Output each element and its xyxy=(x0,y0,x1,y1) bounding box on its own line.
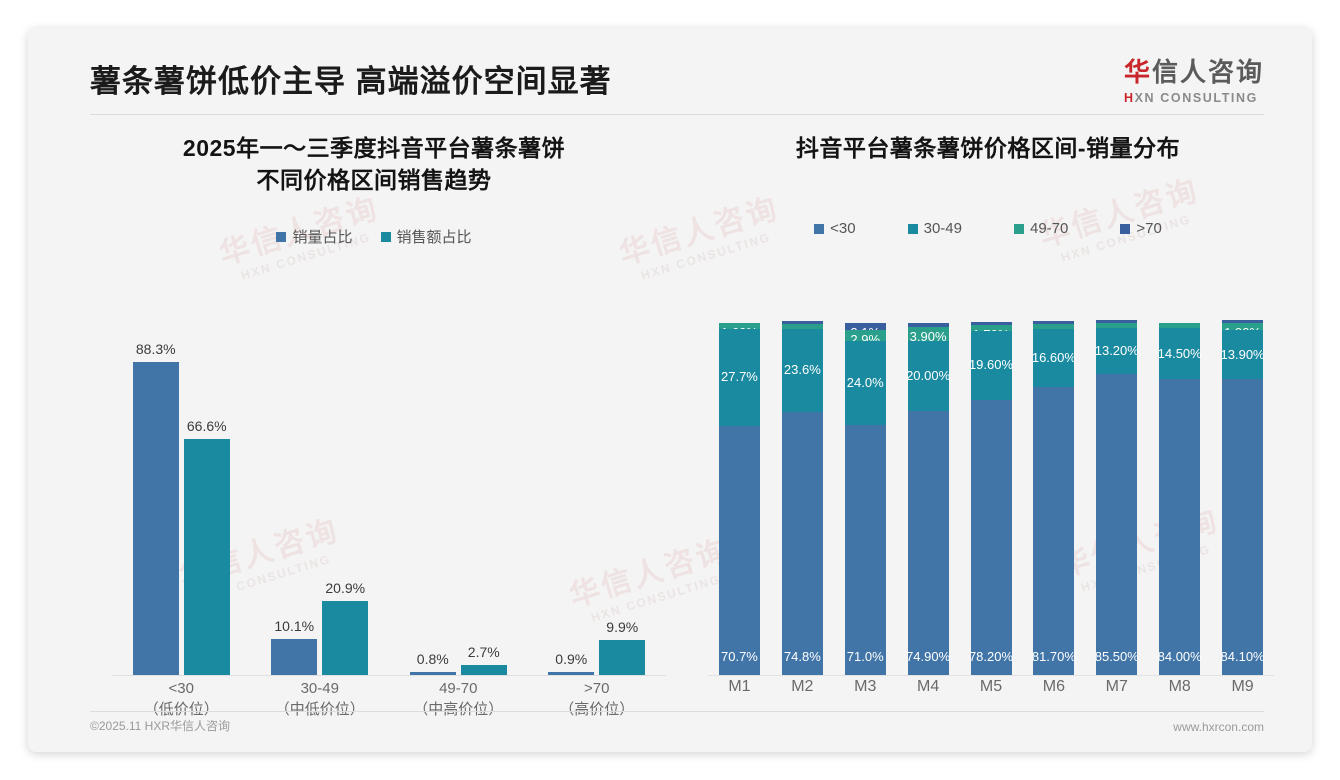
legend-swatch-icon xyxy=(1014,224,1024,234)
legend-label: 49-70 xyxy=(1030,220,1068,237)
legend-item-sales-volume[interactable]: 销量占比 xyxy=(276,226,352,247)
legend-label: 销售额占比 xyxy=(397,226,472,247)
legend-item-sales-amount[interactable]: 销售额占比 xyxy=(381,226,472,247)
x-axis-tick-label: M9 xyxy=(1211,678,1274,696)
stacked-bar-column: 0.0%1.60%27.7%70.7% xyxy=(708,316,771,675)
stacked-bar: 0.10%1.20%13.20%85.50% xyxy=(1096,316,1137,675)
stacked-bar-column: 0.2%1.40%23.6%74.8% xyxy=(771,316,834,675)
stacked-bar-column: 0.30%1.40%16.60%81.70% xyxy=(1022,316,1085,675)
bar-value-label: 9.9% xyxy=(606,619,638,635)
x-axis-tick-label: M6 xyxy=(1022,678,1085,696)
left-chart-legend: 销量占比 销售额占比 xyxy=(74,226,674,247)
x-axis-tick-label: M4 xyxy=(897,678,960,696)
bar-value-label: 66.6% xyxy=(187,418,227,434)
stacked-bar: 1.20%3.90%20.00%74.90% xyxy=(908,316,949,675)
x-axis-tick-label: M7 xyxy=(1085,678,1148,696)
segment-value-label: 74.90% xyxy=(906,649,950,664)
segment-value-label: 71.0% xyxy=(847,649,884,664)
segment-value-label: 27.7% xyxy=(721,369,758,384)
right-chart-title: 抖音平台薯条薯饼价格区间-销量分布 xyxy=(688,132,1288,164)
stacked-bar-column: 1.20%3.90%20.00%74.90% xyxy=(897,316,960,675)
segment-value-label: 24.0% xyxy=(847,375,884,390)
bar-column: 88.3% xyxy=(133,316,179,675)
bar-value-label: 0.9% xyxy=(555,651,587,667)
slide-canvas: 华信人咨询 HXN CONSULTING 华信人咨询 HXN CONSULTIN… xyxy=(28,28,1312,752)
stack-segment-<30[interactable]: 78.20% xyxy=(971,400,1012,675)
segment-value-label: 78.20% xyxy=(969,649,1013,664)
legend-label: 销量占比 xyxy=(292,226,352,247)
legend-label: >70 xyxy=(1136,220,1161,237)
legend-item-30-49[interactable]: 30-49 xyxy=(908,220,962,237)
bar-销售额占比[interactable] xyxy=(461,665,507,675)
stack-segment-<30[interactable]: 81.70% xyxy=(1033,387,1074,675)
grouped-bar-chart: 88.3%66.6%10.1%20.9%0.8%2.7%0.9%9.9% <30… xyxy=(82,316,674,676)
bar-column: 9.9% xyxy=(599,316,645,675)
stack-segment-30-49[interactable]: 23.6% xyxy=(782,329,823,412)
brand-logo-en-rest: XN CONSULTING xyxy=(1135,91,1258,105)
bar-column: 0.8% xyxy=(410,316,456,675)
stack-segment-30-49[interactable]: 27.7% xyxy=(719,329,760,427)
x-axis-tick-label: M5 xyxy=(960,678,1023,696)
right-chart-title-line1: 抖音平台薯条薯饼价格区间-销量分布 xyxy=(688,132,1288,164)
segment-value-label: 84.00% xyxy=(1158,649,1202,664)
footer-divider xyxy=(90,711,1264,712)
chart-panel-left: 2025年一～三季度抖音平台薯条薯饼 不同价格区间销售趋势 销量占比 销售额占比… xyxy=(74,132,674,712)
x-axis-tick-label: 49-70 xyxy=(389,678,528,699)
bar-group: 0.9%9.9% xyxy=(528,316,667,675)
stack-segment-<30[interactable]: 74.8% xyxy=(782,412,823,675)
bar-column: 66.6% xyxy=(184,316,230,675)
stacked-bar: 0.0%1.60%27.7%70.7% xyxy=(719,316,760,675)
bar-销售额占比[interactable] xyxy=(599,640,645,675)
bar-销售额占比[interactable] xyxy=(322,601,368,675)
bar-column: 0.9% xyxy=(548,316,594,675)
bar-group: 10.1%20.9% xyxy=(251,316,390,675)
left-chart-title-line2: 不同价格区间销售趋势 xyxy=(74,164,674,196)
page-title: 薯条薯饼低价主导 高端溢价空间显著 xyxy=(90,56,612,101)
segment-value-label: 23.6% xyxy=(784,362,821,377)
legend-label: <30 xyxy=(830,220,855,237)
stack-segment-49-70[interactable]: 3.90% xyxy=(908,327,949,341)
bar-value-label: 2.7% xyxy=(468,644,500,660)
bar-value-label: 0.8% xyxy=(417,651,449,667)
stacked-bar: 0.10%1.90%13.90%84.10% xyxy=(1222,316,1263,675)
segment-value-label: 19.60% xyxy=(969,357,1013,372)
segment-value-label: 74.8% xyxy=(784,649,821,664)
footer-copyright: ©2025.11 HXR华信人咨询 xyxy=(90,717,230,734)
legend-item-49-70[interactable]: 49-70 xyxy=(1014,220,1068,237)
segment-value-label: 70.7% xyxy=(721,649,758,664)
stacked-bar: 0.30%1.40%16.60%81.70% xyxy=(1033,316,1074,675)
x-axis-tick-label: >70 xyxy=(528,678,667,699)
stacked-bar-column: 0.00%1.50%14.50%84.00% xyxy=(1148,316,1211,675)
bar-value-label: 10.1% xyxy=(274,618,314,634)
x-axis-tick: >70（高价位） xyxy=(528,678,667,720)
stack-segment->70[interactable]: 2.1% xyxy=(845,323,886,330)
x-axis-tick-label: 30-49 xyxy=(251,678,390,699)
bar-group: 0.8%2.7% xyxy=(389,316,528,675)
left-chart-title: 2025年一～三季度抖音平台薯条薯饼 不同价格区间销售趋势 xyxy=(74,132,674,196)
legend-swatch-icon xyxy=(381,232,391,242)
stacked-bar-column: 0.10%1.20%13.20%85.50% xyxy=(1085,316,1148,675)
x-axis-tick: 49-70（中高价位） xyxy=(389,678,528,720)
segment-value-label: 85.50% xyxy=(1095,649,1139,664)
bar-销量占比[interactable] xyxy=(271,639,317,675)
brand-logo: 华信人咨询 HXN CONSULTING xyxy=(1124,52,1264,105)
stacked-bar-column: 0.70%1.70%19.60%78.20% xyxy=(960,316,1023,675)
stack-segment-30-49[interactable]: 20.00% xyxy=(908,341,949,411)
x-axis-tick: <30（低价位） xyxy=(112,678,251,720)
bar-value-label: 88.3% xyxy=(136,341,176,357)
stack-segment-<30[interactable]: 84.00% xyxy=(1159,379,1200,675)
segment-value-label: 16.60% xyxy=(1032,350,1076,365)
stack-segment-49-70[interactable]: 2.9% xyxy=(845,330,886,340)
stack-segment-<30[interactable]: 74.90% xyxy=(908,411,949,675)
bar-销售额占比[interactable] xyxy=(184,439,230,675)
left-chart-title-line1: 2025年一～三季度抖音平台薯条薯饼 xyxy=(74,132,674,164)
footer-website: www.hxrcon.com xyxy=(1173,720,1264,734)
segment-value-label: 13.20% xyxy=(1095,343,1139,358)
stacked-bar-chart: 0.0%1.60%27.7%70.7%0.2%1.40%23.6%74.8%2.… xyxy=(702,316,1280,676)
stack-segment-30-49[interactable]: 14.50% xyxy=(1159,328,1200,379)
legend-swatch-icon xyxy=(276,232,286,242)
x-axis-tick-label: M1 xyxy=(708,678,771,696)
stack-segment-30-49[interactable]: 13.20% xyxy=(1096,328,1137,374)
stack-segment-<30[interactable]: 71.0% xyxy=(845,425,886,675)
bar-column: 2.7% xyxy=(461,316,507,675)
x-axis-line xyxy=(708,675,1274,676)
bar-column: 10.1% xyxy=(271,316,317,675)
stack-segment-49-70[interactable]: 1.90% xyxy=(1222,323,1263,330)
brand-logo-cn-first: 华 xyxy=(1124,57,1152,87)
legend-swatch-icon xyxy=(908,224,918,234)
stack-segment-30-49[interactable]: 13.90% xyxy=(1222,330,1263,379)
segment-value-label: 81.70% xyxy=(1032,649,1076,664)
segment-value-label: 13.90% xyxy=(1221,347,1265,362)
legend-item-over-70[interactable]: >70 xyxy=(1120,220,1161,237)
x-axis-tick-label: M8 xyxy=(1148,678,1211,696)
legend-label: 30-49 xyxy=(924,220,962,237)
brand-logo-en: HXN CONSULTING xyxy=(1124,91,1264,105)
right-chart-legend: <30 30-49 49-70 >70 xyxy=(688,220,1288,237)
stack-segment-30-49[interactable]: 24.0% xyxy=(845,341,886,425)
segment-value-label: 20.00% xyxy=(906,368,950,383)
stack-segment-<30[interactable]: 84.10% xyxy=(1222,379,1263,675)
legend-swatch-icon xyxy=(814,224,824,234)
x-axis-tick-sublabel: （中低价位） xyxy=(251,699,390,720)
stacked-bar: 2.1%2.9%24.0%71.0% xyxy=(845,316,886,675)
stacked-bar-column: 0.10%1.90%13.90%84.10% xyxy=(1211,316,1274,675)
bar-销量占比[interactable] xyxy=(133,362,179,675)
x-axis-tick-sublabel: （高价位） xyxy=(528,699,667,720)
brand-logo-cn: 华信人咨询 xyxy=(1124,52,1264,89)
bar-column: 20.9% xyxy=(322,316,368,675)
stacked-bar: 0.70%1.70%19.60%78.20% xyxy=(971,316,1012,675)
segment-value-label: 84.10% xyxy=(1221,649,1265,664)
stack-segment-<30[interactable]: 70.7% xyxy=(719,426,760,675)
legend-swatch-icon xyxy=(1120,224,1130,234)
stacked-bar: 0.2%1.40%23.6%74.8% xyxy=(782,316,823,675)
slide-header: 薯条薯饼低价主导 高端溢价空间显著 华信人咨询 HXN CONSULTING xyxy=(28,28,1312,114)
legend-item-under-30[interactable]: <30 xyxy=(814,220,855,237)
brand-logo-cn-rest: 信人咨询 xyxy=(1152,57,1264,87)
stack-segment-30-49[interactable]: 16.60% xyxy=(1033,329,1074,387)
bar-group: 88.3%66.6% xyxy=(112,316,251,675)
stacked-bar: 0.00%1.50%14.50%84.00% xyxy=(1159,316,1200,675)
x-axis-tick: 30-49（中低价位） xyxy=(251,678,390,720)
stack-segment-<30[interactable]: 85.50% xyxy=(1096,374,1137,675)
header-divider xyxy=(90,114,1264,115)
brand-logo-en-first: H xyxy=(1124,91,1135,105)
stacked-bar-column: 2.1%2.9%24.0%71.0% xyxy=(834,316,897,675)
chart-panel-right: 抖音平台薯条薯饼价格区间-销量分布 <30 30-49 49-70 >70 0.… xyxy=(688,132,1288,712)
stack-segment-30-49[interactable]: 19.60% xyxy=(971,331,1012,400)
x-axis-tick-label: M3 xyxy=(834,678,897,696)
segment-value-label: 14.50% xyxy=(1158,346,1202,361)
x-axis-tick-label: M2 xyxy=(771,678,834,696)
x-axis-tick-sublabel: （中高价位） xyxy=(389,699,528,720)
x-axis-line xyxy=(112,675,666,676)
bar-value-label: 20.9% xyxy=(325,580,365,596)
x-axis-tick-label: <30 xyxy=(112,678,251,699)
